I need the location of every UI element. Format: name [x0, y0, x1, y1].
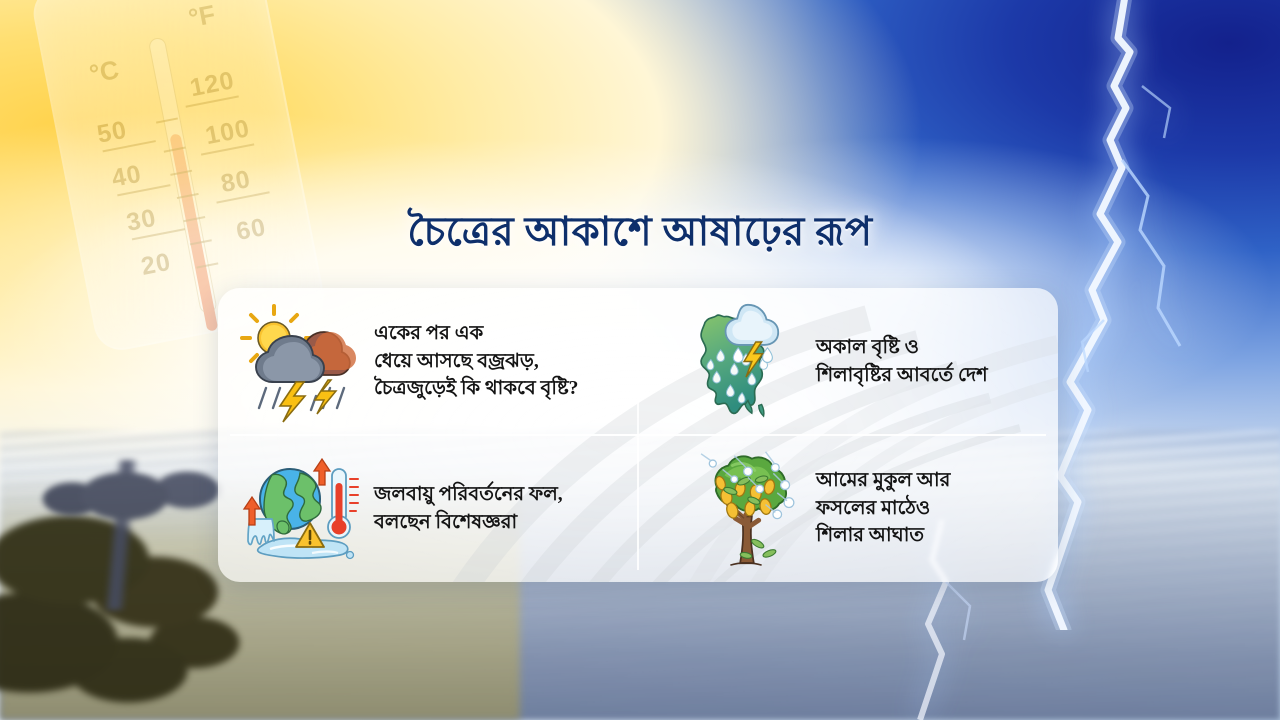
mango-tree-hailstorm-icon: [686, 446, 806, 571]
card-mango-hail-text: আমের মুকুল আর ফসলের মাঠেও শিলার আঘাত: [816, 467, 950, 550]
card3-line2: বলছেন বিশেষজ্ঞরা: [374, 509, 563, 537]
card4-line3: শিলার আঘাত: [816, 522, 950, 550]
card3-line1: জলবায়ু পরিবর্তনের ফল,: [374, 481, 563, 509]
card-climate-change-text: জলবায়ু পরিবর্তনের ফল, বলছেন বিশেষজ্ঞরা: [374, 481, 563, 536]
card2-line1: অকাল বৃষ্টি ও: [816, 334, 988, 362]
card4-line1: আমের মুকুল আর: [816, 467, 950, 495]
celsius-tick-50: 50: [95, 116, 130, 150]
page-title: চৈত্রের আকাশে আষাঢ়ের রূপ: [0, 200, 1280, 267]
cards-panel: একের পর এক ধেয়ে আসছে বজ্রঝড়, চৈত্রজুড়…: [218, 288, 1058, 582]
celsius-tick-40: 40: [109, 160, 144, 194]
palm-silhouette: [0, 460, 240, 610]
lightning-bolt-icon: [1030, 0, 1220, 630]
card1-line2: ধেয়ে আসছে বজ্রঝড়,: [374, 348, 578, 376]
card-climate-change[interactable]: জলবায়ু পরিবর্তনের ফল, বলছেন বিশেষজ্ঞরা: [218, 435, 638, 582]
card-thunderstorm-text: একের পর এক ধেয়ে আসছে বজ্রঝড়, চৈত্রজুড়…: [374, 320, 578, 403]
fahrenheit-tick-80: 80: [218, 165, 253, 199]
card1-line3: চৈত্রজুড়েই কি থাকবে বৃষ্টি?: [374, 375, 578, 403]
infographic-stage: °C °F 50 40 30 20 120 100 80 60: [0, 0, 1280, 720]
card-thunderstorm[interactable]: একের পর এক ধেয়ে আসছে বজ্রঝড়, চৈত্রজুড়…: [218, 288, 638, 435]
bangladesh-map-rain-lightning-icon: [686, 299, 806, 424]
vertical-divider: [637, 300, 639, 570]
card1-line1: একের পর এক: [374, 320, 578, 348]
sun-storm-cloud-rain-lightning-icon: [232, 302, 364, 422]
celsius-unit-label: °C: [87, 54, 122, 90]
card4-line2: ফসলের মাঠেও: [816, 495, 950, 523]
card2-line2: শিলাবৃষ্টির আবর্তে দেশ: [816, 362, 988, 390]
card-untimely-rain-text: অকাল বৃষ্টি ও শিলাবৃষ্টির আবর্তে দেশ: [816, 334, 988, 389]
card-mango-hail[interactable]: আমের মুকুল আর ফসলের মাঠেও শিলার আঘাত: [638, 435, 1058, 582]
card-untimely-rain[interactable]: অকাল বৃষ্টি ও শিলাবৃষ্টির আবর্তে দেশ: [638, 288, 1058, 435]
fahrenheit-unit-label: °F: [186, 0, 218, 34]
globe-thermometer-melting-ice-warning-icon: [232, 449, 364, 569]
